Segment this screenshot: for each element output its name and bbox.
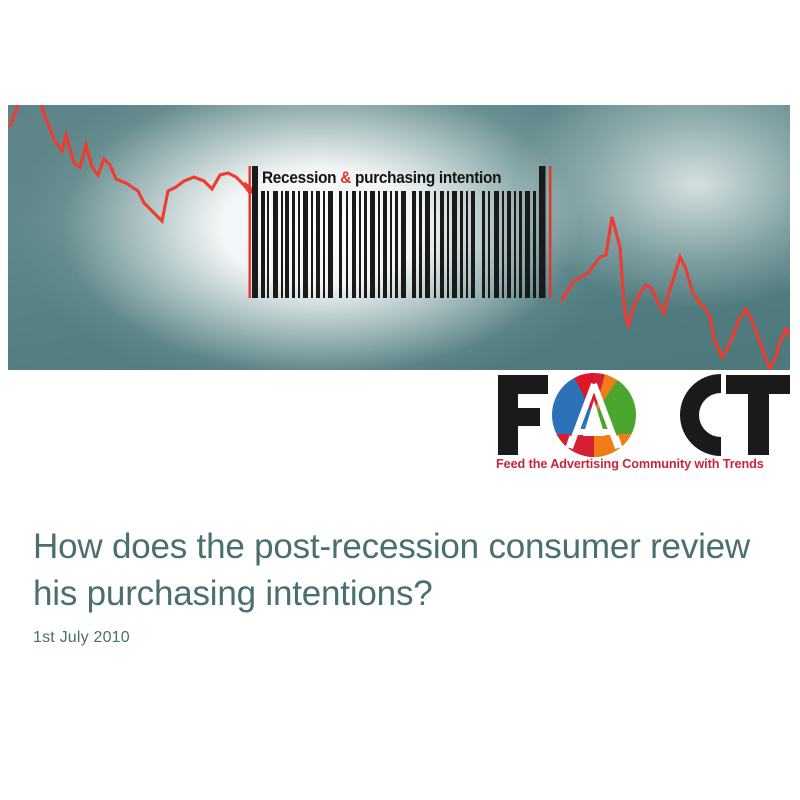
barcode-label-ampersand: & <box>340 169 351 187</box>
page-title: How does the post-recession consumer rev… <box>33 523 763 617</box>
barcode-graphic: Recession & purchasing intention <box>247 166 553 298</box>
logo-letter-a-pie <box>550 370 638 464</box>
trend-line-right <box>561 217 790 369</box>
presentation-date: 1st July 2010 <box>33 629 130 647</box>
fact-logo: Feed the Advertising Community with Tren… <box>494 370 794 480</box>
logo-letter-f <box>498 375 548 455</box>
slide-canvas: { "slide": { "background_color": "#fffff… <box>0 0 800 800</box>
barcode-label-prefix: Recession <box>262 169 340 187</box>
barcode-label-suffix: purchasing intention <box>351 169 501 187</box>
barcode-guard-right <box>549 166 551 298</box>
barcode-guard-left <box>249 166 251 298</box>
trend-line-left <box>10 105 254 221</box>
fact-logo-tagline: Feed the Advertising Community with Tren… <box>496 456 784 471</box>
barcode-label: Recession & purchasing intention <box>262 169 522 188</box>
logo-letter-t <box>726 375 790 455</box>
